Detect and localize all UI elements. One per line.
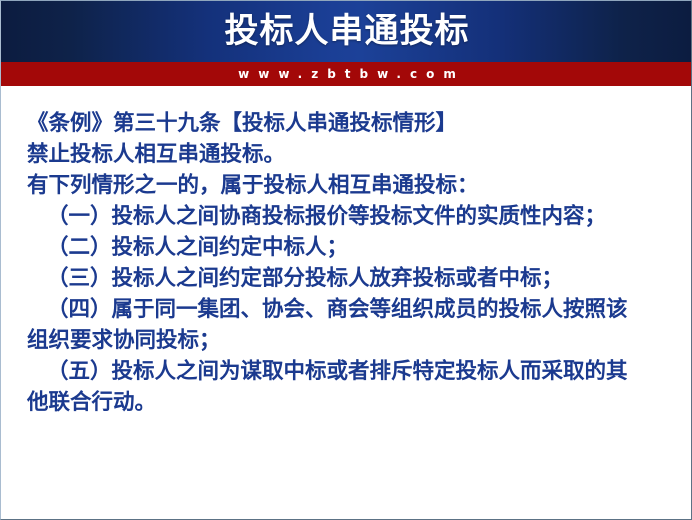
body-line-regulation-heading: 《条例》第三十九条【投标人串通投标情形】 [27,108,679,139]
presentation-slide: 投标人串通投标 www.zbtbw.com 《条例》第三十九条【投标人串通投标情… [0,0,692,520]
body-line-list-intro: 有下列情形之一的，属于投标人相互串通投标： [27,170,679,201]
body-line-item-5: （五）投标人之间为谋取中标或者排斥特定投标人而采取的其 [27,356,679,387]
body-line-item-4: （四）属于同一集团、协会、商会等组织成员的投标人按照该 [27,294,679,325]
slide-body-content: 《条例》第三十九条【投标人串通投标情形】 禁止投标人相互串通投标。 有下列情形之… [1,86,692,519]
body-line-item-4-continued: 组织要求协同投标； [27,325,679,356]
website-url-text: www.zbtbw.com [229,68,465,80]
body-line-item-5-continued: 他联合行动。 [27,387,679,418]
body-line-item-3: （三）投标人之间约定部分投标人放弃投标或者中标； [27,263,679,294]
body-line-item-1: （一）投标人之间协商投标报价等投标文件的实质性内容； [27,201,679,232]
slide-header-banner: 投标人串通投标 [1,1,692,62]
body-line-prohibition: 禁止投标人相互串通投标。 [27,139,679,170]
page-title: 投标人串通投标 [1,1,692,62]
body-line-item-2: （二）投标人之间约定中标人； [27,232,679,263]
website-url-banner: www.zbtbw.com [1,62,692,86]
